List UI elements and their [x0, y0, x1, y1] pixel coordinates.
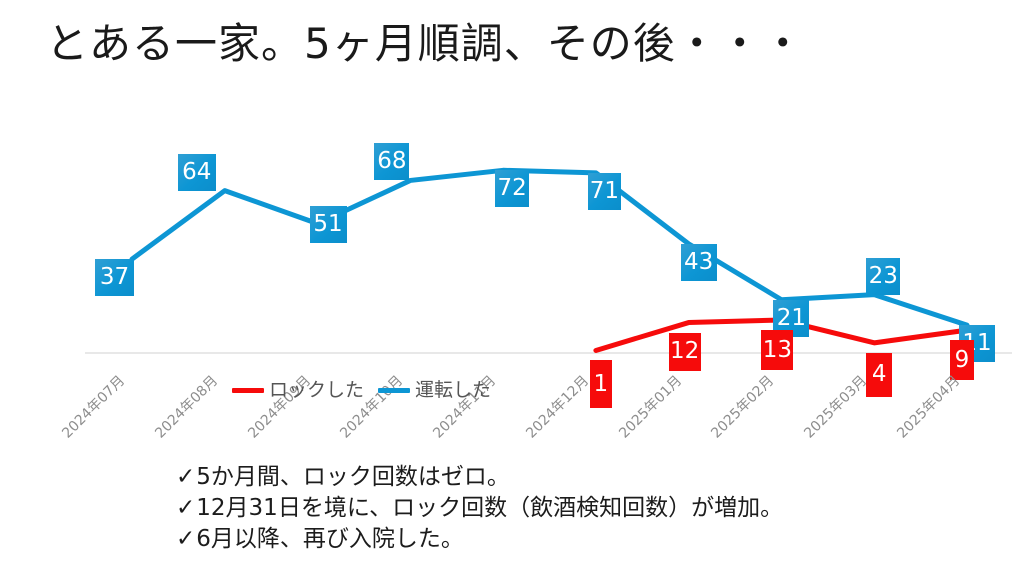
data-label-lock: 12	[669, 333, 701, 371]
list-item-text: 6月以降、再び入院した。	[196, 526, 464, 552]
check-icon: ✓	[176, 495, 195, 521]
list-item-text: 5か月間、ロック回数はゼロ。	[196, 464, 510, 490]
data-label-driving: 72	[495, 170, 529, 207]
list-item: ✓12月31日を境に、ロック回数（飲酒検知回数）が増加。	[176, 493, 783, 524]
list-item: ✓6月以降、再び入院した。	[176, 524, 783, 555]
data-label-driving: 68	[374, 143, 409, 180]
series-line-driving	[132, 170, 967, 325]
check-icon: ✓	[176, 526, 195, 552]
legend-item-lock[interactable]: ロックした	[232, 381, 364, 400]
bullet-list: ✓5か月間、ロック回数はゼロ。 ✓12月31日を境に、ロック回数（飲酒検知回数）…	[176, 462, 783, 555]
legend-label-lock: ロックした	[269, 381, 364, 400]
legend-item-driving[interactable]: 運転した	[378, 381, 491, 400]
data-label-driving: 43	[681, 244, 717, 281]
list-item-text: 12月31日を境に、ロック回数（飲酒検知回数）が増加。	[196, 495, 783, 521]
chart-legend: ロックした 運転した	[232, 381, 491, 400]
page-title: とある一家。5ヶ月順調、その後・・・	[46, 18, 805, 70]
data-label-driving: 71	[588, 173, 621, 210]
legend-swatch-lock	[232, 388, 264, 393]
data-label-lock: 4	[866, 353, 892, 397]
check-icon: ✓	[176, 464, 195, 490]
line-chart: 376451687271432123111121349 2024年07月2024…	[0, 95, 1024, 460]
data-label-lock: 13	[761, 330, 793, 370]
data-label-driving: 37	[95, 259, 134, 296]
data-label-driving: 23	[866, 258, 900, 295]
legend-swatch-driving	[378, 388, 410, 393]
data-label-lock: 1	[590, 360, 612, 408]
legend-label-driving: 運転した	[415, 381, 491, 400]
slide-canvas: とある一家。5ヶ月順調、その後・・・ 376451687271432123111…	[0, 0, 1024, 583]
list-item: ✓5か月間、ロック回数はゼロ。	[176, 462, 783, 493]
data-label-driving: 51	[310, 206, 347, 243]
data-label-driving: 64	[178, 154, 216, 191]
